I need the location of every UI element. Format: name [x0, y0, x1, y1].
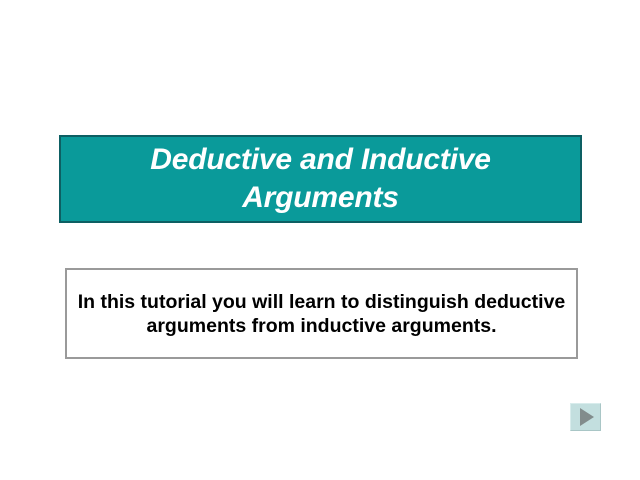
tutorial-description-text: In this tutorial you will learn to disti…: [67, 290, 576, 338]
title-banner: Deductive and Inductive Arguments: [59, 135, 582, 223]
tutorial-description-box: In this tutorial you will learn to disti…: [65, 268, 578, 359]
slide-canvas: Deductive and Inductive Arguments In thi…: [0, 0, 640, 480]
play-triangle-icon: [580, 408, 594, 426]
page-title: Deductive and Inductive Arguments: [61, 141, 580, 217]
next-slide-button[interactable]: [570, 403, 601, 431]
